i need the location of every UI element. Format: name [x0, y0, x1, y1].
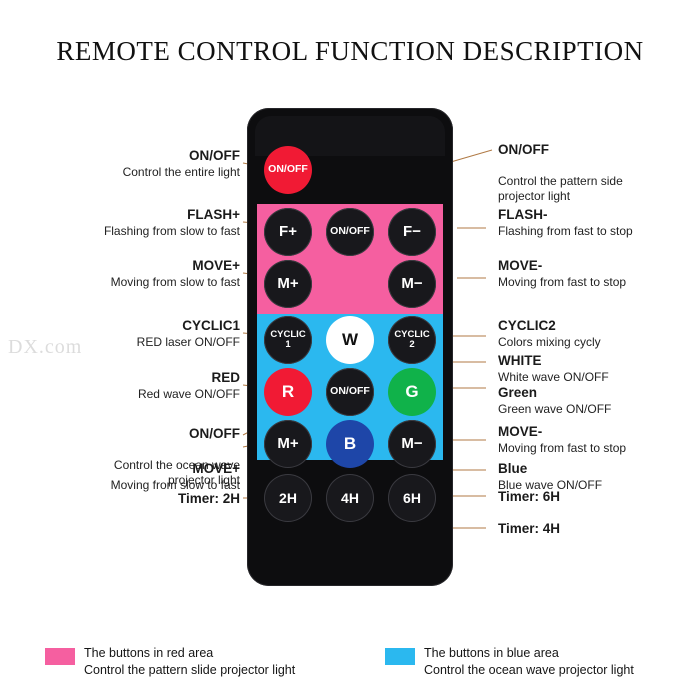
callout-title: MOVE-	[498, 424, 693, 441]
button-move-minus-blue[interactable]: M−	[388, 420, 436, 468]
legend-line-2: Control the pattern slide projector ligh…	[84, 662, 295, 679]
callout-left-move-plus-2: MOVE+ Moving from slow to fast	[20, 461, 240, 493]
button-white[interactable]: W	[326, 316, 374, 364]
legend-line-2: Control the ocean wave projector light	[424, 662, 634, 679]
button-timer-4h[interactable]: 4H	[326, 474, 374, 522]
callout-left-onoff: ON/OFF Control the entire light	[20, 148, 240, 180]
callout-title: CYCLIC2	[498, 318, 693, 335]
button-move-plus-blue[interactable]: M+	[264, 420, 312, 468]
callout-title: RED	[20, 370, 240, 387]
remote-control-body: ON/OFF F+ ON/OFF F− M+ M− CYCLIC 1 W CYC…	[247, 108, 453, 586]
callout-desc: White wave ON/OFF	[498, 370, 693, 385]
button-move-plus-pink[interactable]: M+	[264, 260, 312, 308]
callout-title: Green	[498, 385, 693, 402]
callout-title: CYCLIC1	[20, 318, 240, 335]
callout-desc: Flashing from slow to fast	[20, 224, 240, 239]
callout-right-timer-4h: Timer: 4H	[498, 521, 693, 538]
callout-right-move-minus: MOVE- Moving from fast to stop	[498, 258, 693, 290]
legend: The buttons in red area Control the patt…	[0, 640, 700, 690]
button-onoff-blue[interactable]: ON/OFF	[326, 368, 374, 416]
button-red[interactable]: R	[264, 368, 312, 416]
button-cyclic-1[interactable]: CYCLIC 1	[264, 316, 312, 364]
button-onoff-top[interactable]: ON/OFF	[264, 146, 312, 194]
legend-item-blue: The buttons in blue area Control the oce…	[385, 645, 634, 679]
legend-line-1: The buttons in red area	[84, 645, 295, 662]
callout-title: ON/OFF	[498, 142, 693, 159]
callout-right-green: Green Green wave ON/OFF	[498, 385, 693, 417]
callout-desc: Green wave ON/OFF	[498, 402, 693, 417]
callout-left-red: RED Red wave ON/OFF	[20, 370, 240, 402]
callout-desc: Moving from fast to stop	[498, 441, 693, 456]
callout-title: ON/OFF	[10, 426, 240, 443]
callout-title: FLASH+	[20, 207, 240, 224]
button-flash-plus[interactable]: F+	[264, 208, 312, 256]
callout-title: MOVE+	[20, 258, 240, 275]
callout-right-cyclic2: CYCLIC2 Colors mixing cycly	[498, 318, 693, 350]
callout-desc: Moving from slow to fast	[20, 275, 240, 290]
callout-right-flash-minus: FLASH- Flashing from fast to stop	[498, 207, 693, 239]
legend-item-pink: The buttons in red area Control the patt…	[45, 645, 295, 679]
callout-left-move-plus: MOVE+ Moving from slow to fast	[20, 258, 240, 290]
callout-title: WHITE	[498, 353, 693, 370]
callout-desc: Red wave ON/OFF	[20, 387, 240, 402]
callout-right-timer-6h: Timer: 6H	[498, 489, 693, 506]
callout-title: Blue	[498, 461, 693, 478]
callout-left-cyclic1: CYCLIC1 RED laser ON/OFF	[20, 318, 240, 350]
callout-desc: Colors mixing cycly	[498, 335, 693, 350]
callout-desc: Control the pattern side projector light	[498, 174, 693, 204]
callout-right-move-minus-2: MOVE- Moving from fast to stop	[498, 424, 693, 456]
button-flash-minus[interactable]: F−	[388, 208, 436, 256]
callout-desc: Moving from fast to stop	[498, 275, 693, 290]
legend-line-1: The buttons in blue area	[424, 645, 634, 662]
button-timer-6h[interactable]: 6H	[388, 474, 436, 522]
callout-desc: RED laser ON/OFF	[20, 335, 240, 350]
callout-title: ON/OFF	[20, 148, 240, 165]
legend-swatch-blue	[385, 648, 415, 665]
callout-right-onoff-pattern: ON/OFF Control the pattern side projecto…	[498, 126, 693, 220]
callout-left-timer-2h: Timer: 2H	[20, 491, 240, 508]
button-timer-2h[interactable]: 2H	[264, 474, 312, 522]
callout-desc: Control the entire light	[20, 165, 240, 180]
button-move-minus-pink[interactable]: M−	[388, 260, 436, 308]
callout-left-flash-plus: FLASH+ Flashing from slow to fast	[20, 207, 240, 239]
callout-title: Timer: 4H	[498, 521, 693, 538]
callout-title: Timer: 2H	[20, 491, 240, 508]
callout-title: FLASH-	[498, 207, 693, 224]
button-blue[interactable]: B	[326, 420, 374, 468]
callout-desc: Flashing from fast to stop	[498, 224, 693, 239]
button-onoff-pink[interactable]: ON/OFF	[326, 208, 374, 256]
callout-right-white: WHITE White wave ON/OFF	[498, 353, 693, 385]
legend-swatch-pink	[45, 648, 75, 665]
page-title: REMOTE CONTROL FUNCTION DESCRIPTION	[0, 36, 700, 67]
callout-title: MOVE+	[20, 461, 240, 478]
callout-title: Timer: 6H	[498, 489, 693, 506]
callout-title: MOVE-	[498, 258, 693, 275]
button-green[interactable]: G	[388, 368, 436, 416]
button-cyclic-2[interactable]: CYCLIC 2	[388, 316, 436, 364]
